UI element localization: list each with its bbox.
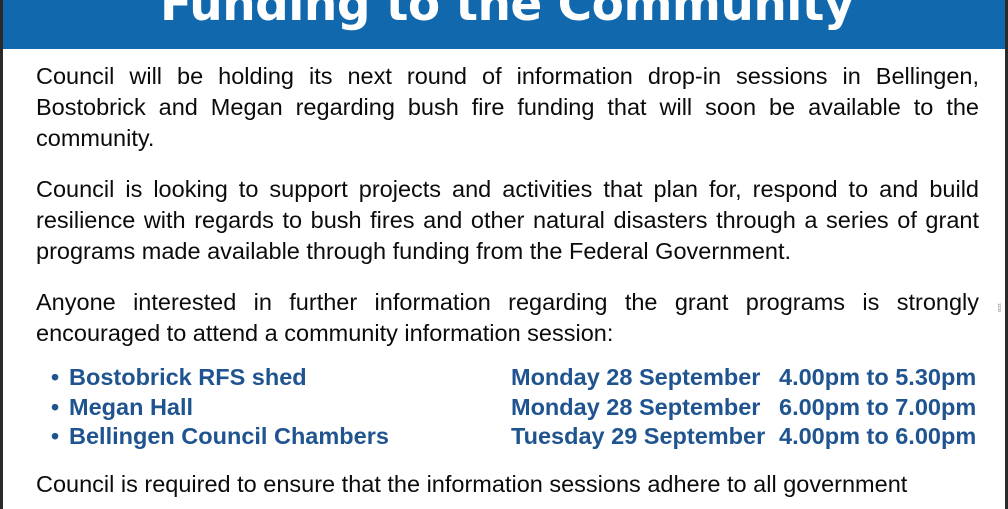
paragraph-requirements: Council is required to ensure that the i… (36, 469, 979, 500)
session-venue: Megan Hall (69, 393, 511, 423)
paragraph-invitation: Anyone interested in further information… (36, 287, 979, 349)
list-item: • Bostobrick RFS shed Monday 28 Septembe… (51, 363, 979, 393)
bullet-icon: • (51, 363, 69, 393)
bullet-icon: • (51, 422, 69, 452)
session-date: Tuesday 29 September (511, 422, 779, 452)
paragraph-support: Council is looking to support projects a… (36, 174, 979, 267)
session-date: Monday 28 September (511, 363, 779, 393)
document-page: Funding to the Community Council will be… (0, 0, 1008, 509)
session-venue: Bostobrick RFS shed (69, 363, 511, 393)
document-body: Council will be holding its next round o… (3, 49, 1008, 500)
session-time: 6.00pm to 7.00pm (779, 393, 976, 423)
edge-print-code: 12150Bulletin Ref BULLMEDIAWEEK42_CPPL_W… (808, 303, 1004, 312)
session-date: Monday 28 September (511, 393, 779, 423)
bullet-icon: • (51, 393, 69, 423)
paragraph-intro: Council will be holding its next round o… (36, 61, 979, 154)
session-list: • Bostobrick RFS shed Monday 28 Septembe… (51, 363, 979, 452)
page-title: Funding to the Community (3, 0, 1008, 34)
session-time: 4.00pm to 5.30pm (779, 363, 976, 393)
list-item: • Megan Hall Monday 28 September 6.00pm … (51, 393, 979, 423)
list-item: • Bellingen Council Chambers Tuesday 29 … (51, 422, 979, 452)
session-venue: Bellingen Council Chambers (69, 422, 511, 452)
session-time: 4.00pm to 6.00pm (779, 422, 976, 452)
header-banner: Funding to the Community (3, 0, 1008, 49)
